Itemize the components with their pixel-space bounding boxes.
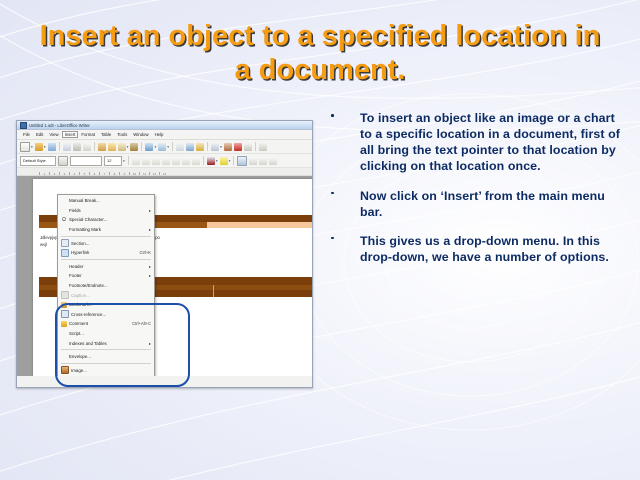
underline-icon[interactable] — [152, 157, 160, 165]
spelling-icon[interactable] — [176, 143, 184, 151]
toolbar-divider — [141, 142, 142, 151]
crossref-icon — [61, 310, 69, 318]
presentation-slide: Insert an object to a specified location… — [0, 0, 640, 480]
menu-item-label: Script... — [69, 331, 151, 336]
menu-item-special-character[interactable]: Ω Special Character... — [58, 215, 154, 225]
toolbar-divider — [172, 142, 173, 151]
menu-item-label: Fields — [69, 208, 144, 213]
list-item: To insert an object like an image or a c… — [326, 110, 626, 175]
ruler-tick: 3 — [59, 172, 69, 175]
blank-icon — [61, 273, 67, 279]
blank-icon — [61, 340, 67, 346]
font-size-combo[interactable]: 12 — [104, 156, 122, 166]
menu-item-footnote-endnote[interactable]: Footnote/Endnote... — [58, 281, 154, 291]
window-title-bar: Untitled 1.odt - LibreOffice Writer — [17, 121, 312, 130]
menu-bar[interactable]: File Edit View Insert Format Table Tools… — [17, 130, 312, 140]
menu-item-file[interactable]: File — [20, 131, 33, 138]
new-document-icon[interactable] — [20, 142, 30, 152]
formatting-marks-icon[interactable] — [196, 143, 204, 151]
caption-icon — [61, 291, 69, 299]
menu-item-image[interactable]: Image... — [58, 366, 154, 376]
clear-formatting-icon[interactable] — [192, 157, 200, 165]
toolbar-divider — [59, 142, 60, 151]
window-title-text: Untitled 1.odt - LibreOffice Writer — [29, 123, 90, 128]
ruler-tick: 10 — [129, 172, 139, 175]
ruler-tick: 13 — [159, 172, 169, 175]
menu-item-edit[interactable]: Edit — [33, 131, 46, 138]
menu-item-footer[interactable]: Footer ▸ — [58, 271, 154, 281]
toolbar-divider — [203, 156, 204, 165]
table-band-row-light — [207, 222, 312, 228]
blank-icon — [61, 263, 67, 269]
copy-icon[interactable] — [108, 143, 116, 151]
menu-item-label: Bookmark... — [69, 302, 151, 307]
menu-item-bookmark[interactable]: Bookmark... — [58, 300, 154, 310]
save-icon[interactable] — [48, 143, 56, 151]
ruler-tick: 4 — [69, 172, 79, 175]
ruler-tick: 12 — [149, 172, 159, 175]
menu-item-shortcut: Ctrl+Alt+C — [132, 321, 151, 326]
section-icon — [61, 239, 69, 247]
menu-item-label: Footer — [69, 273, 144, 278]
list-item: Now click on ‘Insert’ from the main menu… — [326, 188, 626, 220]
chevron-down-icon[interactable]: ▾ — [229, 159, 231, 163]
menu-item-label: Comment — [69, 321, 126, 326]
document-canvas[interactable]: Jdlevpjvp wsojwsojtwo oxiejowiej wsojowi… — [17, 176, 312, 376]
ruler-tick: 2 — [49, 172, 59, 175]
menu-item-indexes-and-tables[interactable]: Indexes and Tables ▸ — [58, 338, 154, 348]
menu-item-tools[interactable]: Tools — [114, 131, 130, 138]
menu-item-hyperlink[interactable]: Hyperlink Ctrl+K — [58, 248, 154, 258]
comment-icon — [61, 321, 67, 327]
redo-icon[interactable] — [158, 143, 166, 151]
toolbar-divider — [255, 142, 256, 151]
menu-item-label: Footnote/Endnote... — [69, 283, 151, 288]
align-justified-icon[interactable] — [269, 157, 277, 165]
insert-dropdown-menu[interactable]: Manual Break... Fields ▸ Ω Special Chara… — [57, 194, 155, 376]
bullet-dot-icon — [331, 192, 334, 195]
menu-separator — [61, 363, 151, 364]
export-pdf-icon[interactable] — [63, 143, 71, 151]
cut-icon[interactable] — [98, 143, 106, 151]
insert-image-icon[interactable] — [224, 143, 232, 151]
menu-item-envelope[interactable]: Envelope... — [58, 352, 154, 362]
slide-title: Insert an object to a specified location… — [28, 20, 612, 87]
menu-item-header[interactable]: Header ▸ — [58, 262, 154, 272]
menu-item-label: Header — [69, 264, 144, 269]
bullet-text: To insert an object like an image or a c… — [360, 111, 620, 173]
highlight-color-icon[interactable] — [220, 157, 228, 165]
bullet-text: Now click on ‘Insert’ from the main menu… — [360, 189, 605, 219]
toolbar-divider — [207, 142, 208, 151]
chevron-right-icon: ▸ — [149, 264, 151, 269]
align-center-icon[interactable] — [249, 157, 257, 165]
menu-item-cross-reference[interactable]: Cross-reference... — [58, 310, 154, 320]
toolbar-divider — [128, 156, 129, 165]
bookmark-icon — [61, 302, 67, 308]
menu-item-label: Manual Break... — [69, 198, 151, 203]
menu-item-label: Formatting Mark — [69, 227, 144, 232]
blank-icon — [61, 198, 67, 204]
update-style-icon[interactable] — [58, 156, 68, 166]
menu-separator — [61, 236, 151, 237]
clone-formatting-icon[interactable] — [130, 143, 138, 151]
superscript-icon[interactable] — [172, 157, 180, 165]
chevron-right-icon: ▸ — [149, 273, 151, 278]
strikethrough-icon[interactable] — [162, 157, 170, 165]
blank-icon — [61, 283, 67, 289]
menu-item-label: Indexes and Tables — [69, 341, 144, 346]
ruler-tick: 7 — [99, 172, 109, 175]
menu-item-label: Section... — [71, 241, 151, 246]
open-icon[interactable] — [35, 143, 43, 151]
paste-icon[interactable] — [118, 143, 126, 151]
menu-item-format[interactable]: Format — [78, 131, 98, 138]
undo-icon[interactable] — [145, 143, 153, 151]
menu-item-label: Special Character... — [69, 217, 151, 222]
table2-col-divider-2 — [213, 285, 214, 297]
slide-bullet-list: To insert an object like an image or a c… — [326, 110, 626, 278]
chevron-right-icon: ▸ — [149, 341, 151, 346]
standard-toolbar[interactable]: ▾ ▾ ▾ ▾ ▾ ▾ — [17, 140, 312, 154]
insert-text-box-icon[interactable] — [244, 143, 252, 151]
menu-item-label: Cross-reference... — [71, 312, 151, 317]
subscript-icon[interactable] — [182, 157, 190, 165]
ruler-tick: 8 — [109, 172, 119, 175]
menu-item-help[interactable]: Help — [152, 131, 167, 138]
menu-item-shortcut: Ctrl+K — [140, 250, 152, 255]
chevron-down-icon[interactable]: ▾ — [123, 159, 125, 163]
menu-item-fields[interactable]: Fields ▸ — [58, 206, 154, 216]
align-left-icon[interactable] — [237, 156, 247, 166]
chevron-down-icon[interactable]: ▾ — [31, 145, 33, 149]
blank-icon — [61, 331, 67, 337]
blank-icon — [61, 354, 67, 360]
horizontal-ruler[interactable]: 1 2 3 4 5 6 7 8 9 10 11 12 13 — [17, 168, 312, 176]
font-color-icon[interactable] — [207, 157, 215, 165]
chevron-down-icon[interactable]: ▾ — [44, 145, 46, 149]
blank-icon — [61, 227, 67, 233]
insert-field-icon[interactable] — [259, 143, 267, 151]
ruler-tick: 9 — [119, 172, 129, 175]
menu-separator — [61, 259, 151, 260]
ruler-tick: 5 — [79, 172, 89, 175]
bullet-dot-icon — [331, 114, 334, 117]
menu-item-caption: Caption... — [58, 290, 154, 300]
menu-separator — [61, 349, 151, 350]
toolbar-divider — [233, 156, 234, 165]
menu-item-insert[interactable]: Insert — [62, 131, 79, 138]
bullet-text: This gives us a drop-down menu. In this … — [360, 234, 609, 264]
chevron-down-icon[interactable]: ▾ — [154, 145, 156, 149]
chevron-down-icon[interactable]: ▾ — [216, 159, 218, 163]
ruler-tick: 1 — [39, 172, 49, 175]
writer-app-icon — [20, 122, 27, 129]
menu-item-media[interactable]: Media ▸ — [58, 375, 154, 376]
list-item: This gives us a drop-down menu. In this … — [326, 233, 626, 265]
image-icon — [61, 366, 69, 374]
print-preview-icon[interactable] — [83, 143, 91, 151]
omega-icon: Ω — [61, 217, 67, 223]
menu-item-script[interactable]: Script... — [58, 329, 154, 339]
menu-item-label: Envelope... — [69, 354, 151, 359]
chevron-down-icon[interactable]: ▾ — [127, 145, 129, 149]
font-name-combo[interactable] — [70, 156, 102, 166]
paragraph-style-combo[interactable]: Default Style — [20, 156, 56, 166]
find-replace-icon[interactable] — [186, 143, 194, 151]
print-icon[interactable] — [73, 143, 81, 151]
menu-item-formatting-mark[interactable]: Formatting Mark ▸ — [58, 225, 154, 235]
menu-item-manual-break[interactable]: Manual Break... — [58, 196, 154, 206]
italic-icon[interactable] — [142, 157, 150, 165]
chevron-right-icon: ▸ — [149, 208, 151, 213]
blank-icon — [61, 207, 67, 213]
menu-item-table[interactable]: Table — [98, 131, 114, 138]
menu-item-comment[interactable]: Comment Ctrl+Alt+C — [58, 319, 154, 329]
align-right-icon[interactable] — [259, 157, 267, 165]
chevron-down-icon[interactable]: ▾ — [167, 145, 169, 149]
libreoffice-writer-window: Untitled 1.odt - LibreOffice Writer File… — [16, 120, 313, 388]
menu-item-window[interactable]: Window — [130, 131, 151, 138]
insert-chart-icon[interactable] — [234, 143, 242, 151]
menu-item-label: Hyperlink — [71, 250, 134, 255]
chevron-right-icon: ▸ — [149, 227, 151, 232]
ruler-tick: 11 — [139, 172, 149, 175]
menu-item-label: Caption... — [71, 293, 151, 298]
ruler-tick: 6 — [89, 172, 99, 175]
menu-item-section[interactable]: Section... — [58, 238, 154, 248]
insert-table-icon[interactable] — [211, 143, 219, 151]
toolbar-divider — [94, 142, 95, 151]
bullet-dot-icon — [331, 237, 334, 240]
formatting-toolbar[interactable]: Default Style 12 ▾ ▾ ▾ — [17, 154, 312, 168]
chevron-down-icon[interactable]: ▾ — [220, 145, 222, 149]
menu-item-view[interactable]: View — [46, 131, 61, 138]
bold-icon[interactable] — [132, 157, 140, 165]
menu-item-label: Image... — [71, 368, 151, 373]
hyperlink-icon — [61, 249, 69, 257]
